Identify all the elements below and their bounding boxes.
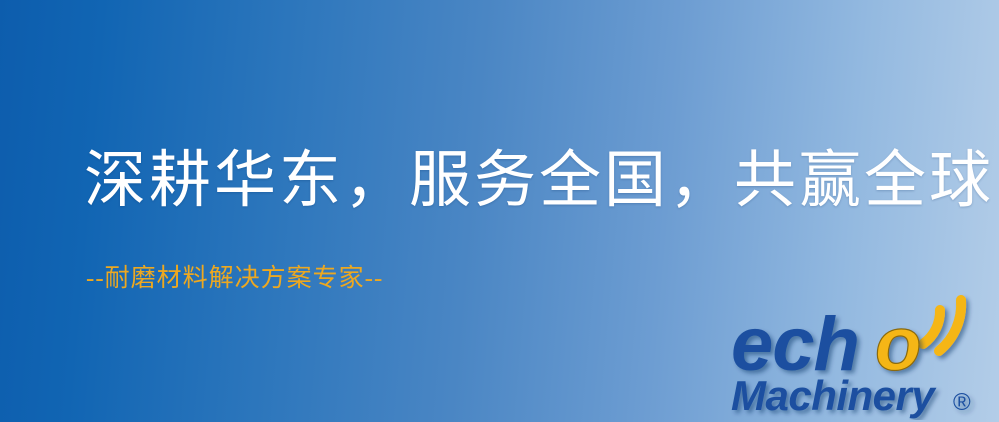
logo-wordmark-machinery: Machinery — [731, 372, 937, 419]
echo-machinery-logo[interactable]: ech o Machinery ® — [725, 288, 987, 420]
logo-registered-mark: ® — [953, 389, 971, 416]
hero-banner: 深耕华东，服务全国，共赢全球 --耐磨材料解决方案专家-- ech o — [0, 0, 999, 422]
echo-wave-icon — [923, 300, 961, 351]
banner-subtitle: --耐磨材料解决方案专家-- — [86, 266, 383, 291]
banner-headline: 深耕华东，服务全国，共赢全球 — [84, 150, 994, 212]
